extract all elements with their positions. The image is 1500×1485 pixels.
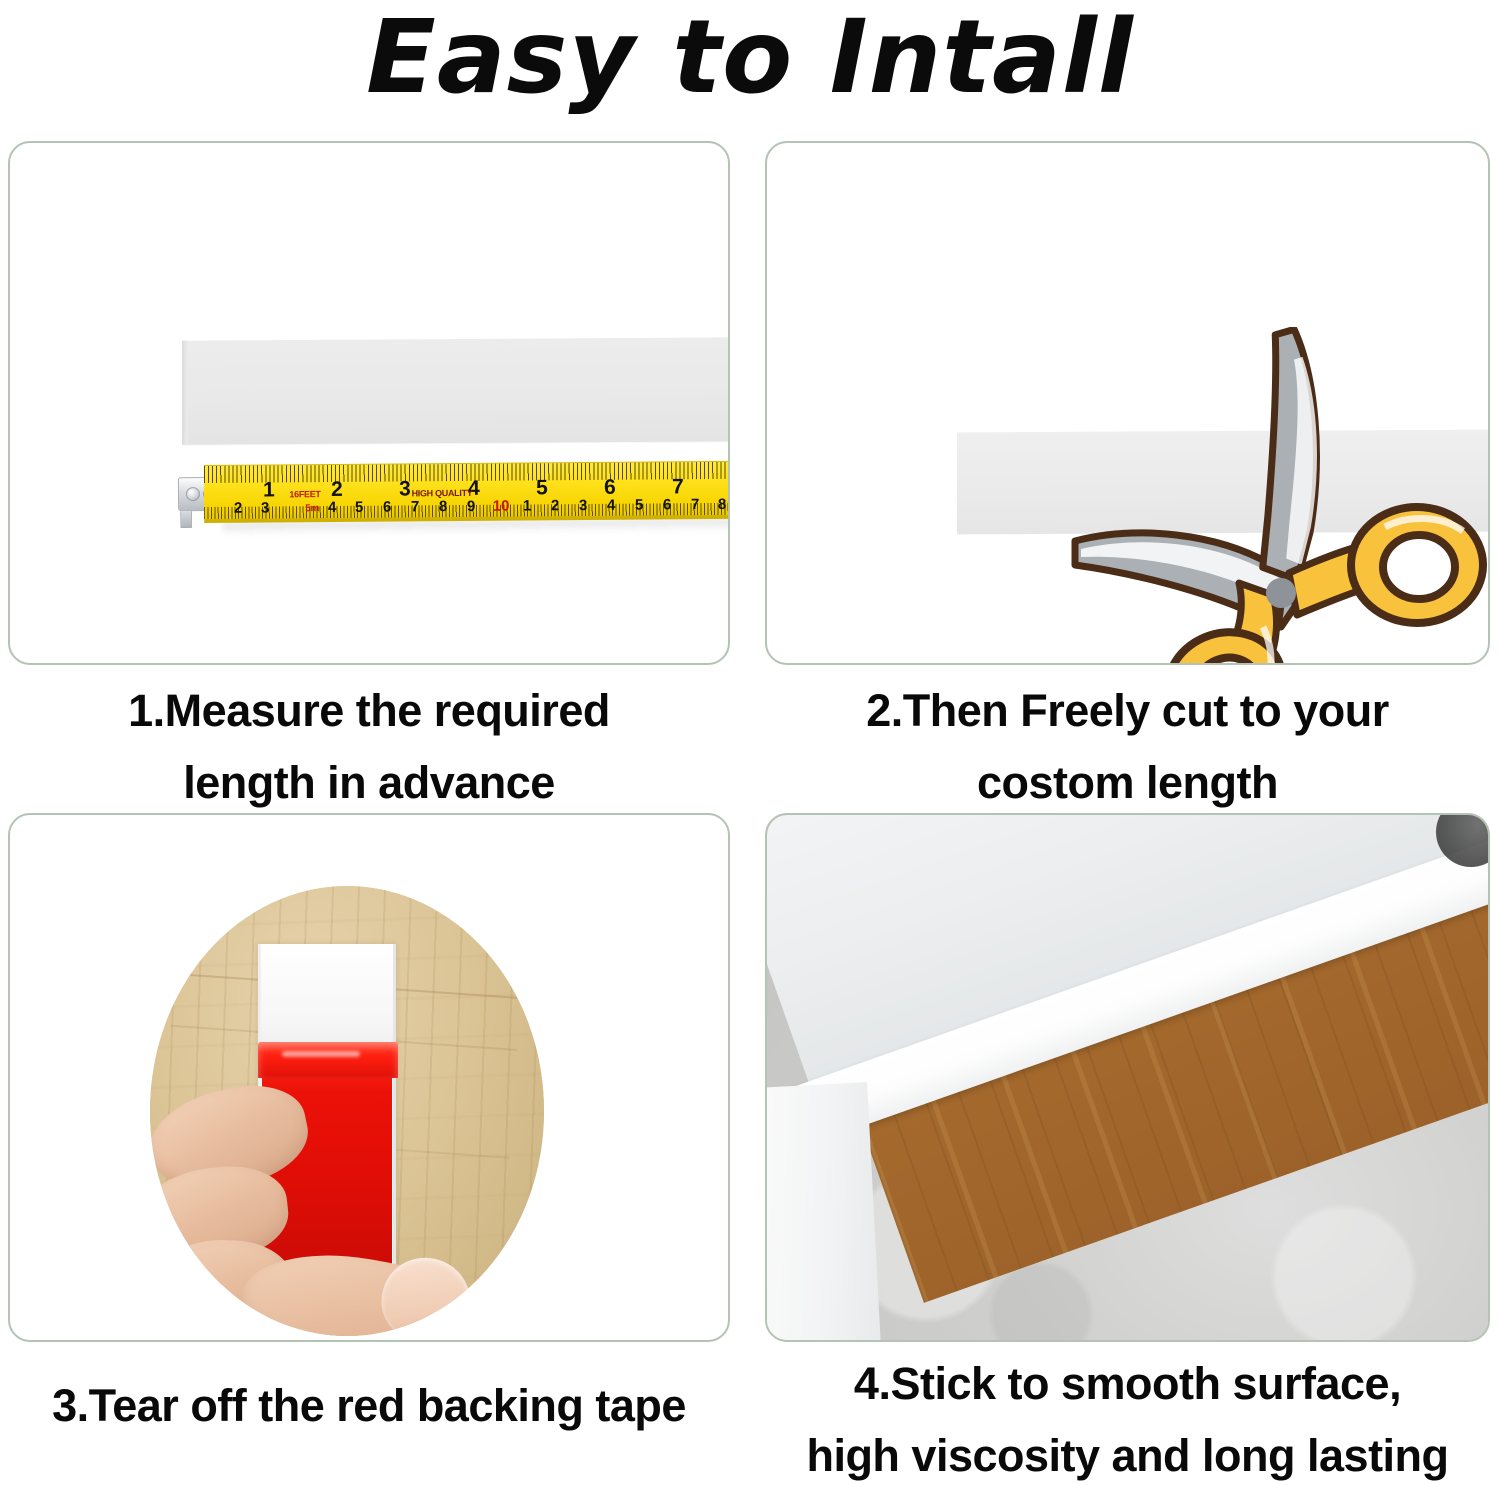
tape-cm-13: 3: [579, 498, 587, 513]
tape-cm-17: 7: [691, 497, 699, 512]
tape-inch-2: 2: [331, 479, 343, 500]
caption-tear: 3.Tear off the red backing tape: [8, 1370, 730, 1442]
tape-inch-3: 3: [399, 478, 411, 499]
red-backing-tape-peeled-edge: [258, 1042, 398, 1078]
caption-stick: 4.Stick to smooth surface, high viscosit…: [765, 1348, 1490, 1485]
caption-measure-line-1: 1.Measure the required: [8, 675, 730, 747]
product-strip-top: [261, 944, 393, 1054]
step-panel-stick: [765, 813, 1490, 1342]
step-panel-measure: 1 2 3 4 5 6 7 16FEET HIGH QUALITY 5m 2 3…: [8, 141, 730, 665]
tape-cm-14: 4: [607, 498, 615, 513]
tape-cm-18: 8: [718, 497, 726, 512]
peel-backing-photo: [150, 886, 544, 1336]
tape-inch-5: 5: [536, 477, 548, 498]
tape-quality-text: HIGH QUALITY: [412, 488, 473, 498]
tape-cm-2: 2: [234, 501, 242, 516]
tape-cm-5: 5: [355, 500, 363, 515]
caption-stick-line-2: high viscosity and long lasting: [765, 1420, 1490, 1485]
tape-inch-1: 1: [263, 479, 275, 500]
tape-cm-4: 4: [328, 500, 336, 515]
tape-cm-9: 9: [467, 499, 475, 514]
tape-brand-text: 16FEET: [289, 489, 320, 499]
tape-cm-10: 10: [493, 499, 510, 514]
tape-inch-7: 7: [672, 476, 684, 497]
tape-cm-7: 7: [411, 499, 419, 514]
caption-measure: 1.Measure the required length in advance: [8, 675, 730, 819]
step-panel-tear: [8, 813, 730, 1342]
tape-cm-15: 5: [635, 498, 643, 513]
caption-cut: 2.Then Freely cut to your costom length: [765, 675, 1490, 819]
hand-photo: [150, 1082, 474, 1336]
step-panel-cut: [765, 141, 1490, 665]
page-title: Easy to Intall: [0, 2, 1500, 114]
tape-cm-6: 6: [383, 500, 391, 515]
tape-cm-8: 8: [439, 499, 447, 514]
tape-body: 1 2 3 4 5 6 7 16FEET HIGH QUALITY 5m 2 3…: [204, 461, 730, 523]
caption-measure-line-2: length in advance: [8, 747, 730, 819]
tape-cm-12: 2: [551, 498, 559, 513]
installed-trim-photo: [767, 815, 1488, 1340]
caption-tear-line-1: 3.Tear off the red backing tape: [8, 1370, 730, 1442]
scissors-icon: [1067, 327, 1487, 665]
caption-stick-line-1: 4.Stick to smooth surface,: [765, 1348, 1490, 1420]
caption-cut-line-1: 2.Then Freely cut to your: [765, 675, 1490, 747]
wall-corner: [767, 1082, 883, 1340]
tape-cm-11: 1: [523, 498, 531, 513]
tape-measure-illustration: 1 2 3 4 5 6 7 16FEET HIGH QUALITY 5m 2 3…: [178, 457, 730, 529]
tape-cm-3: 3: [261, 500, 269, 515]
tape-hook-lip: [180, 511, 192, 528]
infographic-root: Easy to Intall 1 2 3 4 5 6 7 16FEET: [0, 0, 1500, 1485]
caption-cut-line-2: costom length: [765, 747, 1490, 819]
product-strip-illustration: [182, 337, 730, 444]
tape-cm-16: 6: [663, 497, 671, 512]
tape-metric-scale: 2 3 4 5 6 7 8 9 10 1 2 3 4 5 6 7 8: [204, 497, 730, 521]
tape-inch-6: 6: [604, 477, 616, 498]
